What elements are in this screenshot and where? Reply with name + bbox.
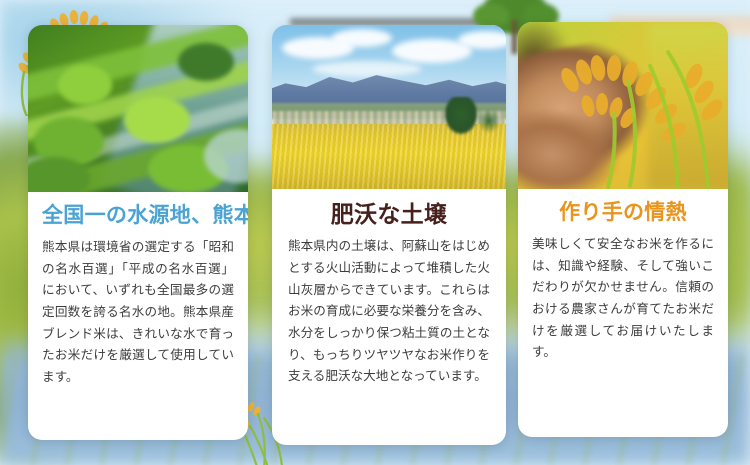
card-description: 美味しくて安全なお米を作るには、知識や経験、そして強いこだわりが欠かせません。信… [532,234,714,364]
promo-panel: 全国一の水源地、熊本 熊本県は環境省の選定する「昭和の名水百選」「平成の名水百選… [0,0,750,465]
aerial-green-valley-stream-photo [28,25,248,192]
card-body: 作り手の情熱 美味しくて安全なお米を作るには、知識や経験、そして強いこだわりが欠… [518,189,728,374]
feature-card-growers-passion[interactable]: 作り手の情熱 美味しくて安全なお米を作るには、知識や経験、そして強いこだわりが欠… [518,22,728,437]
feature-card-fertile-soil[interactable]: 肥沃な土壌 熊本県内の土壌は、阿蘇山をはじめとする火山活動によって堆積した火山灰… [272,25,506,445]
card-title: 肥沃な土壌 [288,201,490,227]
card-title: 作り手の情熱 [532,201,714,225]
card-description: 熊本県は環境省の選定する「昭和の名水百選」「平成の名水百選」において、いずれも全… [42,237,234,389]
card-body: 全国一の水源地、熊本 熊本県は環境省の選定する「昭和の名水百選」「平成の名水百選… [28,192,248,399]
aso-mountains-golden-rice-field-photo [272,25,506,189]
card-description: 熊本県内の土壌は、阿蘇山をはじめとする火山活動によって堆積した火山灰層からできて… [288,236,490,388]
hands-holding-rice-ears-photo [518,22,728,189]
feature-card-water-source[interactable]: 全国一の水源地、熊本 熊本県は環境省の選定する「昭和の名水百選」「平成の名水百選… [28,25,248,440]
card-title: 全国一の水源地、熊本 [42,204,234,228]
feature-card-list: 全国一の水源地、熊本 熊本県は環境省の選定する「昭和の名水百選」「平成の名水百選… [0,0,750,465]
card-body: 肥沃な土壌 熊本県内の土壌は、阿蘇山をはじめとする火山活動によって堆積した火山灰… [272,189,506,398]
